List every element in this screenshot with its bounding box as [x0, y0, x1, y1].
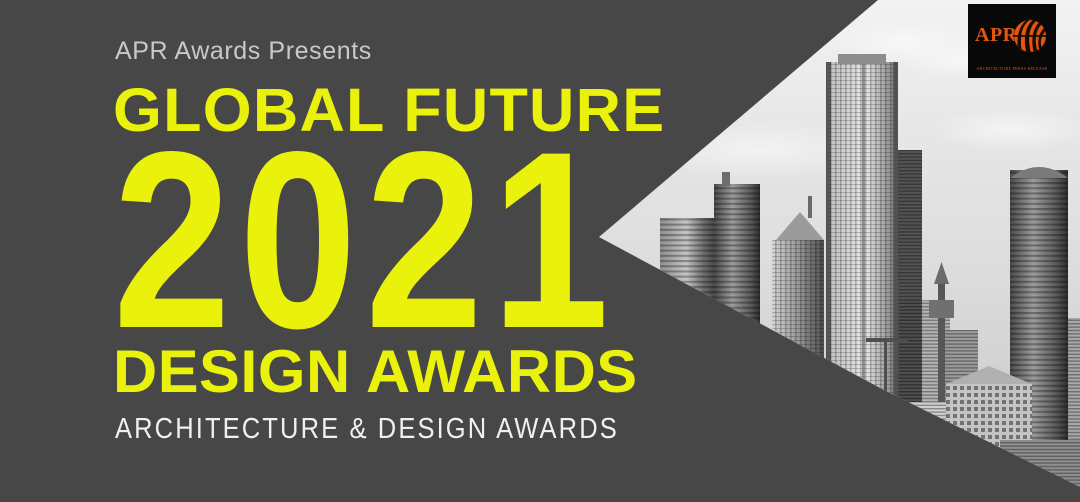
title-line-2: DESIGN AWARDS — [113, 342, 638, 402]
apr-logo: APR ARCHITECTURE PRESS RELEASE — [968, 4, 1056, 78]
headline-block: APR Awards Presents GLOBAL FUTURE 2021 D… — [113, 0, 583, 502]
poster-banner: APR Awards Presents GLOBAL FUTURE 2021 D… — [0, 0, 1080, 502]
striped-globe-icon — [1012, 18, 1048, 54]
award-year: 2021 — [113, 143, 618, 340]
apr-tagline: ARCHITECTURE PRESS RELEASE — [968, 66, 1056, 71]
kicker-text: APR Awards Presents — [115, 37, 372, 66]
subtitle-text: ARCHITECTURE & DESIGN AWARDS — [115, 413, 619, 446]
